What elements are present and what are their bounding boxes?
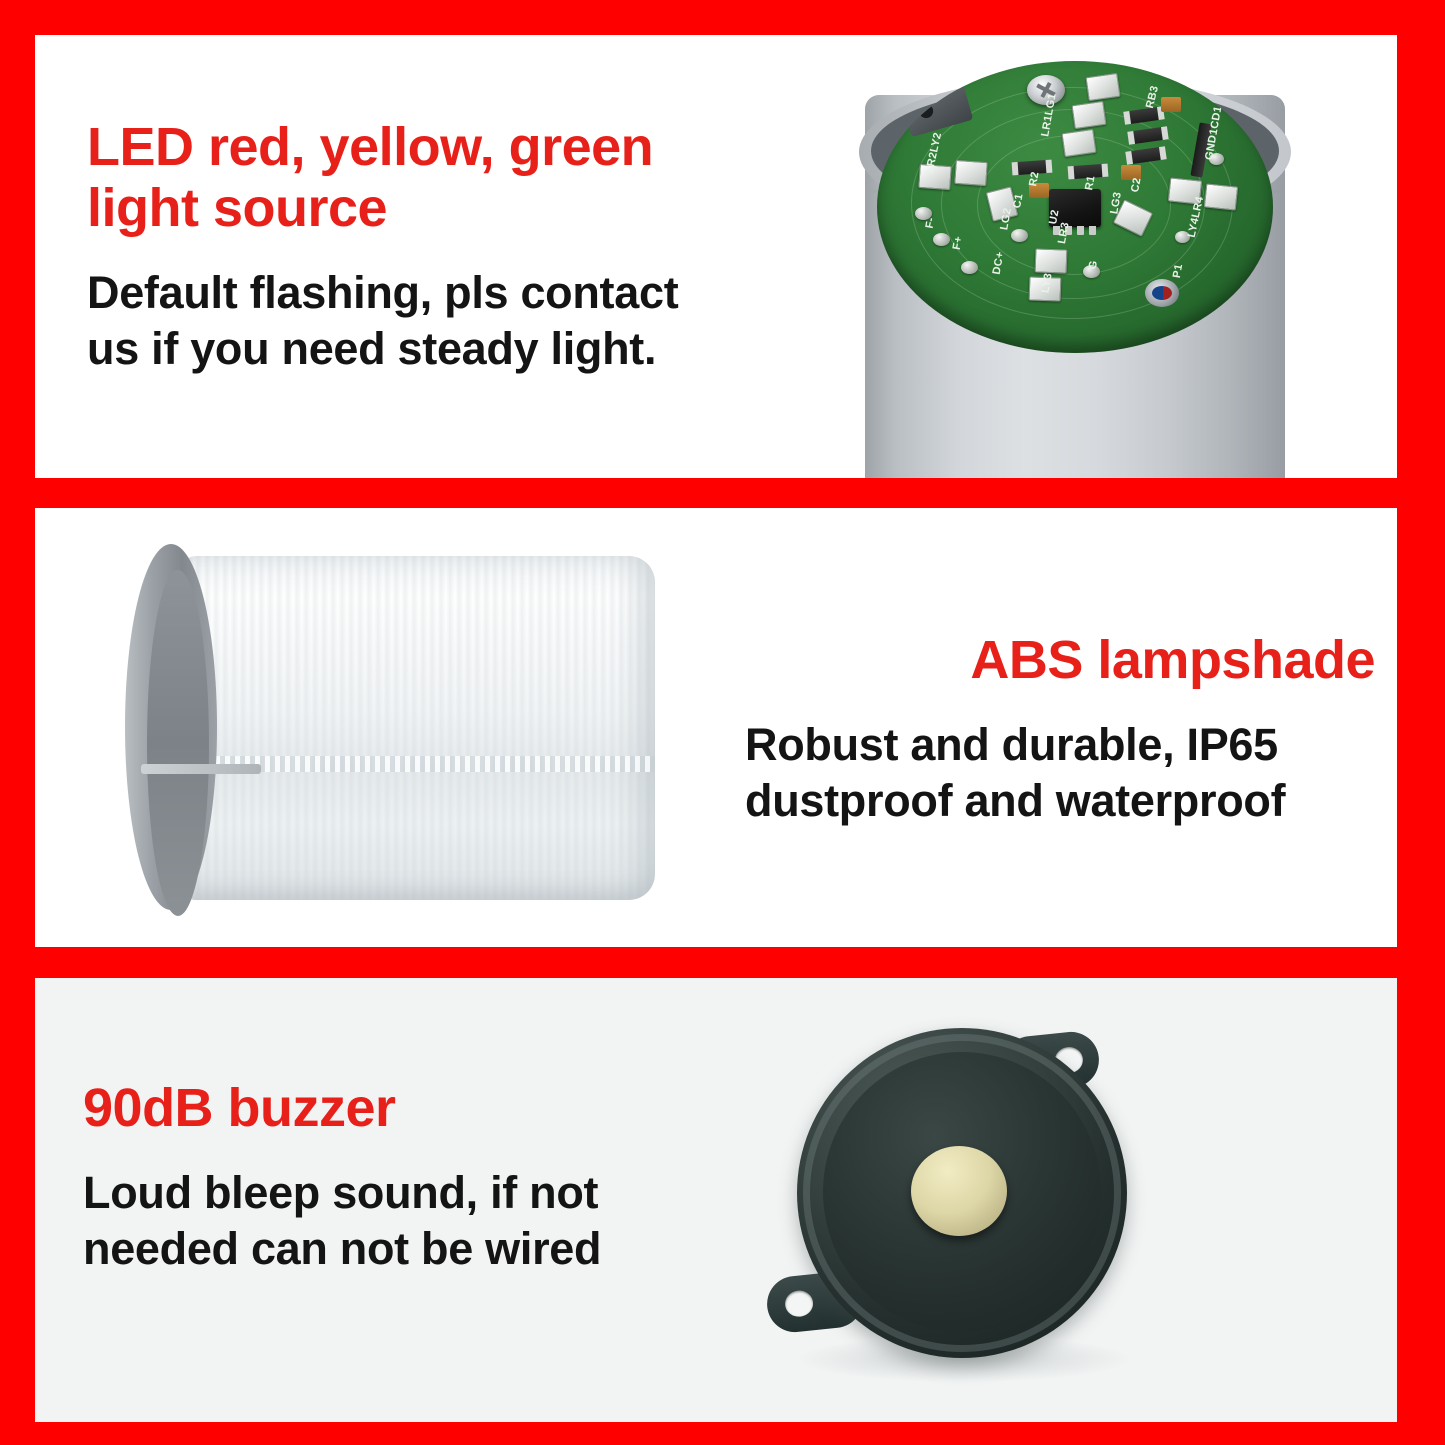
led-package [1071, 101, 1106, 129]
buzzer-body-text: Loud bleep sound, if not needed can not … [83, 1165, 723, 1278]
silkscreen-label: R2 [1027, 171, 1041, 188]
silkscreen-label: C1 [1011, 193, 1025, 210]
buzzer-image [745, 1006, 1215, 1396]
trimmer-potentiometer [1145, 279, 1179, 307]
lampshade-cap-face [147, 570, 209, 916]
lampshade-body-text: Robust and durable, IP65 dustproof and w… [745, 717, 1375, 830]
buzzer-heading: 90dB buzzer [83, 1078, 723, 1139]
silkscreen-label: C2 [1129, 177, 1143, 194]
solder-pad [933, 233, 950, 246]
silkscreen-label: G [1087, 260, 1100, 271]
silkscreen-label: R1 [1083, 175, 1097, 192]
led-package [954, 160, 988, 186]
lampshade-end-cap [125, 544, 217, 910]
silkscreen-label: F+ [951, 235, 965, 251]
led-package [1035, 248, 1068, 273]
capacitor [1161, 97, 1181, 112]
panel-buzzer: 90dB buzzer Loud bleep sound, if not nee… [35, 978, 1397, 1422]
buzzer-text-block: 90dB buzzer Loud bleep sound, if not nee… [83, 1078, 723, 1278]
lampshade-text-block: ABS lampshade Robust and durable, IP65 d… [745, 630, 1375, 830]
panel-abs-lampshade: ABS lampshade Robust and durable, IP65 d… [35, 508, 1397, 947]
silkscreen-label: F- [924, 217, 938, 230]
buzzer-piezo-element [911, 1146, 1007, 1236]
led-text-block: LED red, yellow, green light source Defa… [87, 117, 767, 378]
lampshade-tube [185, 556, 655, 900]
panel-led-light-source: LED red, yellow, green light source Defa… [35, 35, 1397, 478]
lampshade-image [115, 528, 685, 928]
solder-pad [961, 261, 978, 274]
solder-pad [1011, 229, 1028, 242]
pcb-board: LR2LY2 LY4LR4 RB3 R2 R1 C1 C2 DC+ F+ F- … [877, 61, 1273, 353]
lampshade-slot [141, 764, 261, 774]
lampshade-heading: ABS lampshade [745, 630, 1375, 691]
infographic-page: LED red, yellow, green light source Defa… [0, 0, 1445, 1445]
buzzer-body [797, 1028, 1127, 1358]
led-package [1061, 129, 1096, 157]
silkscreen-label: U2 [1047, 209, 1061, 226]
buzzer-mounting-hole [784, 1289, 815, 1318]
led-module-image: LR2LY2 LY4LR4 RB3 R2 R1 C1 C2 DC+ F+ F- … [805, 35, 1365, 478]
led-body-text: Default flashing, pls contact us if you … [87, 265, 767, 378]
led-package [1204, 183, 1238, 210]
led-package [1085, 73, 1120, 101]
silkscreen-label: P1 [1171, 263, 1185, 279]
led-heading: LED red, yellow, green light source [87, 117, 767, 239]
